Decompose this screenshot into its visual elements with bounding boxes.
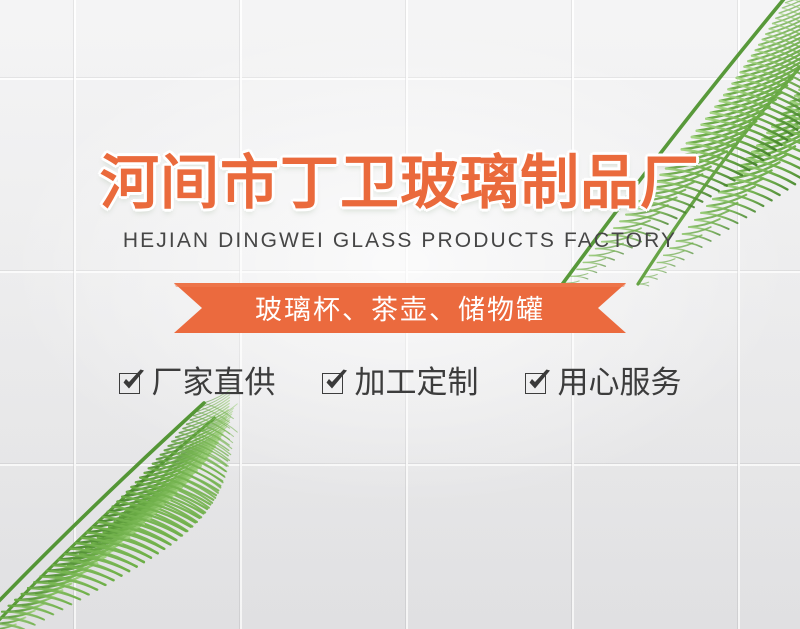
company-title-en: HEJIAN DINGWEI GLASS PRODUCTS FACTORY bbox=[0, 229, 800, 253]
feature-list: 厂家直供 加工定制 用心服务 bbox=[0, 368, 800, 399]
feature-label: 加工定制 bbox=[355, 368, 479, 399]
checkbox-checked-icon bbox=[525, 371, 551, 397]
checkbox-checked-icon bbox=[119, 371, 145, 397]
promo-banner: 河间市丁卫玻璃制品厂 HEJIAN DINGWEI GLASS PRODUCTS… bbox=[0, 0, 800, 629]
product-ribbon: 玻璃杯、茶壶、储物罐 bbox=[0, 281, 800, 337]
feature-item: 用心服务 bbox=[525, 368, 682, 399]
checkbox-checked-icon bbox=[322, 371, 348, 397]
feature-item: 加工定制 bbox=[322, 368, 479, 399]
feature-label: 厂家直供 bbox=[152, 368, 276, 399]
palm-frond-bottom-left-secondary bbox=[0, 399, 245, 629]
company-title-cn: 河间市丁卫玻璃制品厂 bbox=[0, 151, 800, 215]
feature-label: 用心服务 bbox=[558, 368, 682, 399]
feature-item: 厂家直供 bbox=[119, 368, 276, 399]
palm-frond-bottom-left bbox=[0, 387, 222, 629]
ribbon-label: 玻璃杯、茶壶、储物罐 bbox=[174, 281, 626, 335]
